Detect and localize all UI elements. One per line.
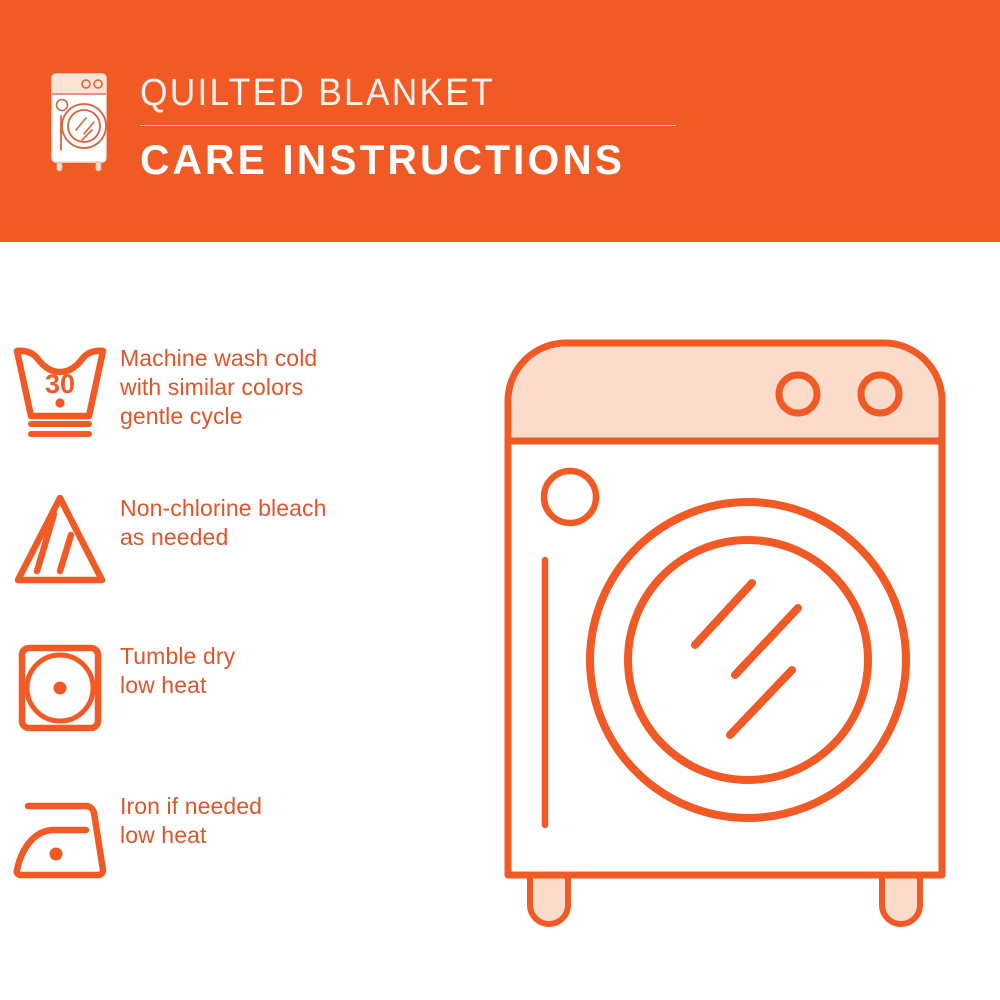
wash-temperature-label: 30 — [45, 369, 75, 399]
care-row-iron: Iron if needed low heat — [0, 790, 480, 886]
care-text-dry-line1: Tumble dry — [120, 642, 235, 671]
washing-machine-logo-icon — [46, 70, 112, 174]
machine-legs — [530, 873, 920, 924]
care-text-bleach: Non-chlorine bleach as needed — [120, 492, 326, 552]
care-text-bleach-line2: as needed — [120, 523, 326, 552]
care-text-iron-line2: low heat — [120, 821, 262, 850]
care-text-wash-line1: Machine wash cold — [120, 344, 317, 373]
title-divider — [140, 125, 676, 126]
care-row-bleach: Non-chlorine bleach as needed — [0, 492, 480, 588]
front-load-washing-machine-illustration — [490, 325, 960, 935]
tumble-dry-low-heat-icon — [0, 640, 120, 736]
control-panel — [512, 347, 939, 442]
care-text-wash-line2: with similar colors — [120, 373, 317, 402]
page-title-care-instructions: CARE INSTRUCTIONS — [140, 135, 722, 185]
care-text-bleach-line1: Non-chlorine bleach — [120, 494, 326, 523]
care-instructions-infographic: QUILTED BLANKET CARE INSTRUCTIONS 30 Mac… — [0, 0, 1000, 1000]
wash-tub-30-gentle-icon: 30 — [0, 342, 120, 438]
care-instruction-list: 30 Machine wash cold with similar colors… — [0, 242, 480, 1000]
iron-low-heat-icon — [0, 790, 120, 886]
care-text-wash: Machine wash cold with similar colors ge… — [120, 342, 317, 431]
care-text-wash-line3: gentle cycle — [120, 402, 317, 431]
care-text-iron: Iron if needed low heat — [120, 790, 262, 850]
care-row-wash: 30 Machine wash cold with similar colors… — [0, 342, 480, 438]
page-title-product: QUILTED BLANKET — [140, 70, 698, 116]
care-text-iron-line1: Iron if needed — [120, 792, 262, 821]
care-row-tumble-dry: Tumble dry low heat — [0, 640, 480, 736]
header-banner: QUILTED BLANKET CARE INSTRUCTIONS — [0, 0, 1000, 242]
care-text-tumble-dry: Tumble dry low heat — [120, 640, 235, 700]
non-chlorine-bleach-triangle-icon — [0, 492, 120, 588]
header-title-group: QUILTED BLANKET CARE INSTRUCTIONS — [140, 70, 740, 185]
care-text-dry-line2: low heat — [120, 671, 235, 700]
